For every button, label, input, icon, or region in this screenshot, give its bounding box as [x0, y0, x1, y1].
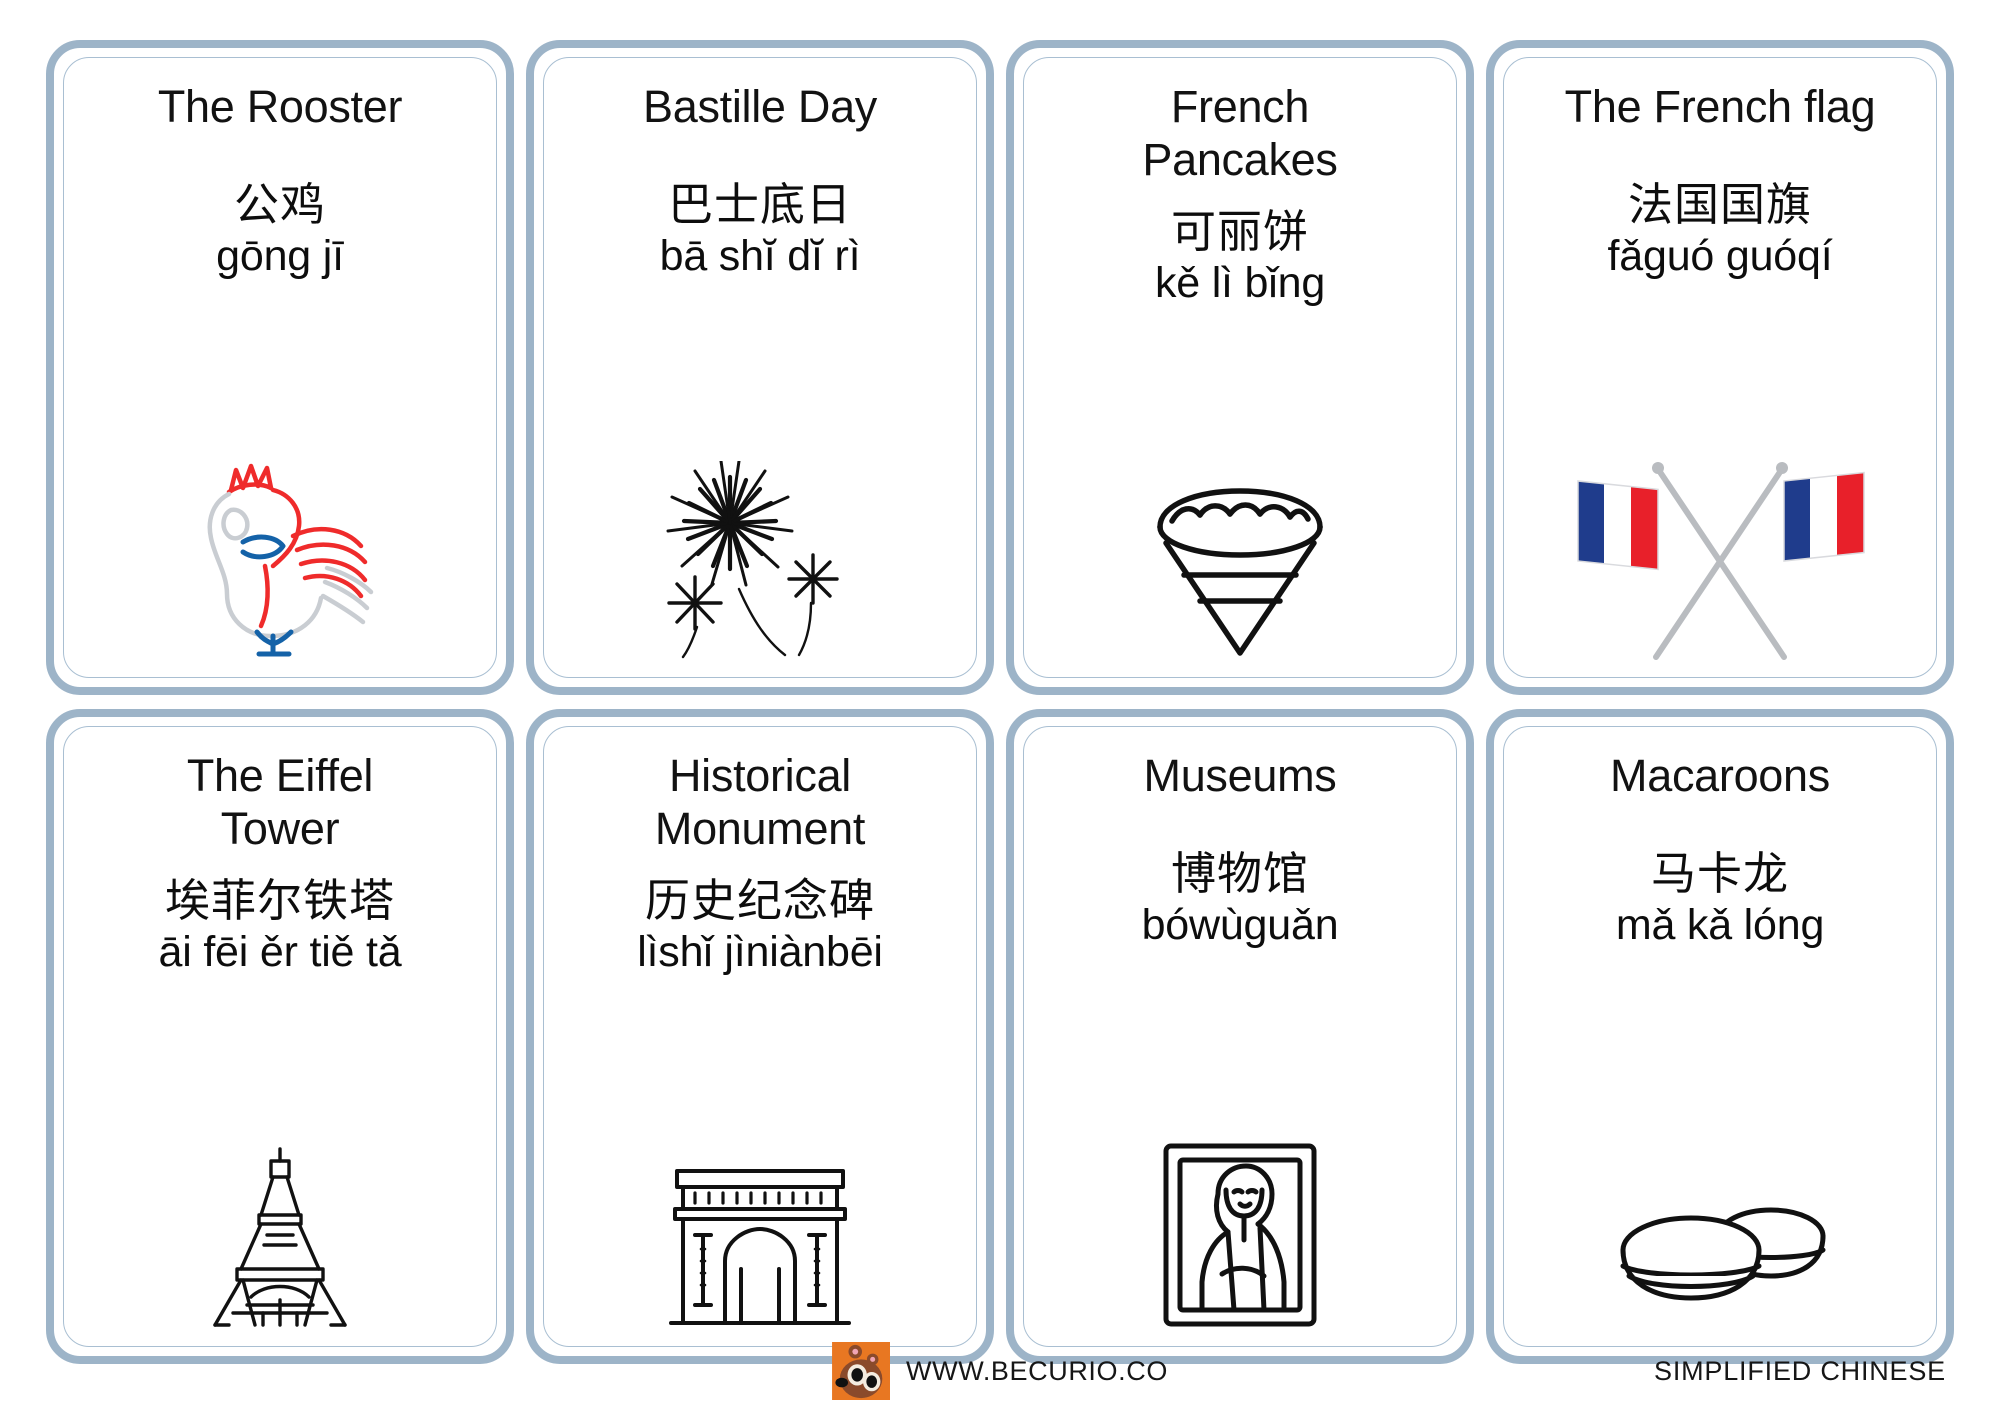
flashcard-macaroons[interactable]: Macaroons 马卡龙 mǎ kǎ lóng	[1486, 709, 1954, 1364]
rooster-icon	[165, 446, 395, 661]
card-title: Bastille Day	[643, 80, 877, 133]
card-pinyin: fǎguó guóqí	[1608, 231, 1833, 283]
card-title: The Rooster	[158, 80, 402, 133]
framed-painting-icon	[1160, 1140, 1320, 1330]
card-illustration	[1040, 310, 1440, 663]
card-pinyin: āi fēi ěr tiě tǎ	[159, 927, 402, 979]
language-label: SIMPLIFIED CHINESE	[1654, 1356, 1946, 1387]
card-illustration	[1040, 951, 1440, 1332]
flashcard-the-french-flag[interactable]: The French flag 法国国旗 fǎguó guóqí	[1486, 40, 1954, 695]
card-illustration	[1520, 282, 1920, 663]
card-hanzi: 可丽饼	[1155, 206, 1325, 258]
card-word-block: 可丽饼 kě lì bǐng	[1155, 206, 1325, 309]
card-title: Historical Monument	[655, 749, 865, 855]
flashcard-bastille-day[interactable]: Bastille Day 巴士底日 bā shĭ dĭ rì	[526, 40, 994, 695]
card-title: The French flag	[1565, 80, 1876, 133]
crossed-french-flags-icon	[1570, 451, 1870, 661]
card-inner: Museums 博物馆 bówùguǎn	[1023, 726, 1457, 1347]
card-hanzi: 埃菲尔铁塔	[159, 875, 402, 927]
card-pinyin: kě lì bǐng	[1155, 258, 1325, 310]
macarons-icon	[1595, 1180, 1845, 1330]
card-illustration	[1520, 951, 1920, 1332]
card-pinyin: lìshǐ jìniànbēi	[637, 927, 883, 979]
card-hanzi: 法国国旗	[1608, 179, 1833, 231]
card-inner: Bastille Day 巴士底日 bā shĭ dĭ rì	[543, 57, 977, 678]
card-hanzi: 历史纪念碑	[637, 875, 883, 927]
card-word-block: 历史纪念碑 lìshǐ jìniànbēi	[637, 875, 883, 978]
card-hanzi: 博物馆	[1142, 848, 1339, 900]
fireworks-icon	[635, 461, 885, 661]
sheet-footer: WWW.BECURIO.CO SIMPLIFIED CHINESE	[0, 1328, 2000, 1414]
card-hanzi: 马卡龙	[1616, 848, 1824, 900]
card-word-block: 埃菲尔铁塔 āi fēi ěr tiě tǎ	[159, 875, 402, 978]
card-pinyin: gōng jī	[216, 231, 344, 283]
brand-block: WWW.BECURIO.CO	[832, 1342, 1168, 1400]
flashcard-the-rooster[interactable]: The Rooster 公鸡 gōng jī	[46, 40, 514, 695]
card-inner: The Rooster 公鸡 gōng jī	[63, 57, 497, 678]
flashcard-sheet: The Rooster 公鸡 gōng jī	[0, 0, 2000, 1414]
card-pinyin: bā shĭ dĭ rì	[660, 231, 861, 283]
card-word-block: 法国国旗 fǎguó guóqí	[1608, 179, 1833, 282]
card-inner: The French flag 法国国旗 fǎguó guóqí	[1503, 57, 1937, 678]
card-hanzi: 巴士底日	[660, 179, 861, 231]
flashcard-french-pancakes[interactable]: French Pancakes 可丽饼 kě lì bǐng	[1006, 40, 1474, 695]
flashcard-historical-monument[interactable]: Historical Monument 历史纪念碑 lìshǐ jìniànbē…	[526, 709, 994, 1364]
card-pinyin: bówùguǎn	[1142, 900, 1339, 952]
arc-de-triomphe-icon	[655, 1165, 865, 1330]
card-illustration	[80, 282, 480, 663]
card-word-block: 公鸡 gōng jī	[216, 179, 344, 282]
flashcard-museums[interactable]: Museums 博物馆 bówùguǎn	[1006, 709, 1474, 1364]
card-inner: Macaroons 马卡龙 mǎ kǎ lóng	[1503, 726, 1937, 1347]
flashcard-the-eiffel-tower[interactable]: The Eiffel Tower 埃菲尔铁塔 āi fēi ěr tiě tǎ	[46, 709, 514, 1364]
card-pinyin: mǎ kǎ lóng	[1616, 900, 1824, 952]
card-title: The Eiffel Tower	[187, 749, 373, 855]
card-illustration	[80, 979, 480, 1332]
card-word-block: 巴士底日 bā shĭ dĭ rì	[660, 179, 861, 282]
card-title: French Pancakes	[1142, 80, 1337, 186]
eiffel-tower-icon	[185, 1145, 375, 1330]
card-title: Macaroons	[1610, 749, 1830, 802]
card-illustration	[560, 979, 960, 1332]
crepe-cone-icon	[1140, 481, 1340, 661]
card-inner: Historical Monument 历史纪念碑 lìshǐ jìniànbē…	[543, 726, 977, 1347]
brand-url-label: WWW.BECURIO.CO	[906, 1356, 1168, 1387]
becurio-bear-logo-icon	[832, 1342, 890, 1400]
flashcard-grid: The Rooster 公鸡 gōng jī	[46, 40, 1954, 1364]
card-word-block: 博物馆 bówùguǎn	[1142, 848, 1339, 951]
card-inner: French Pancakes 可丽饼 kě lì bǐng	[1023, 57, 1457, 678]
card-inner: The Eiffel Tower 埃菲尔铁塔 āi fēi ěr tiě tǎ	[63, 726, 497, 1347]
card-illustration	[560, 282, 960, 663]
card-word-block: 马卡龙 mǎ kǎ lóng	[1616, 848, 1824, 951]
card-hanzi: 公鸡	[216, 179, 344, 231]
card-title: Museums	[1144, 749, 1337, 802]
